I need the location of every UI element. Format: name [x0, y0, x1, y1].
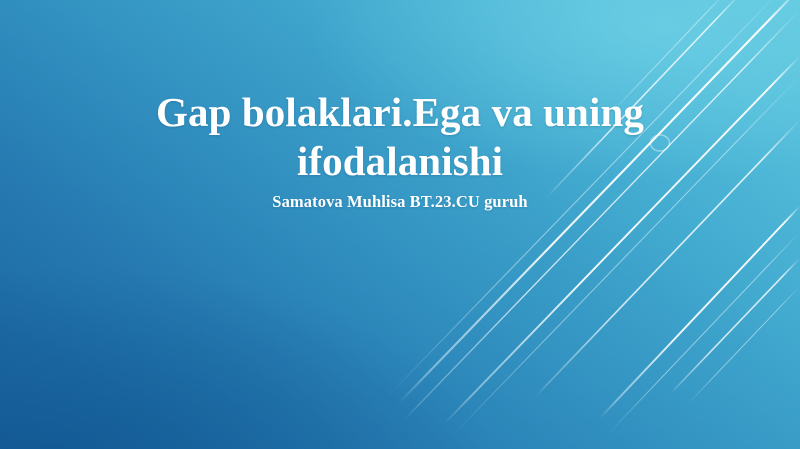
slide-subtitle[interactable]: Samatova Muhlisa BT.23.CU guruh — [64, 192, 736, 212]
slide-background-glow — [0, 0, 800, 449]
presentation-slide: Gap bolaklari.Ega va uning ifodalanishi … — [0, 0, 800, 449]
slide-title[interactable]: Gap bolaklari.Ega va uning ifodalanishi — [64, 88, 736, 186]
slide-text-block: Gap bolaklari.Ega va uning ifodalanishi … — [0, 88, 800, 212]
